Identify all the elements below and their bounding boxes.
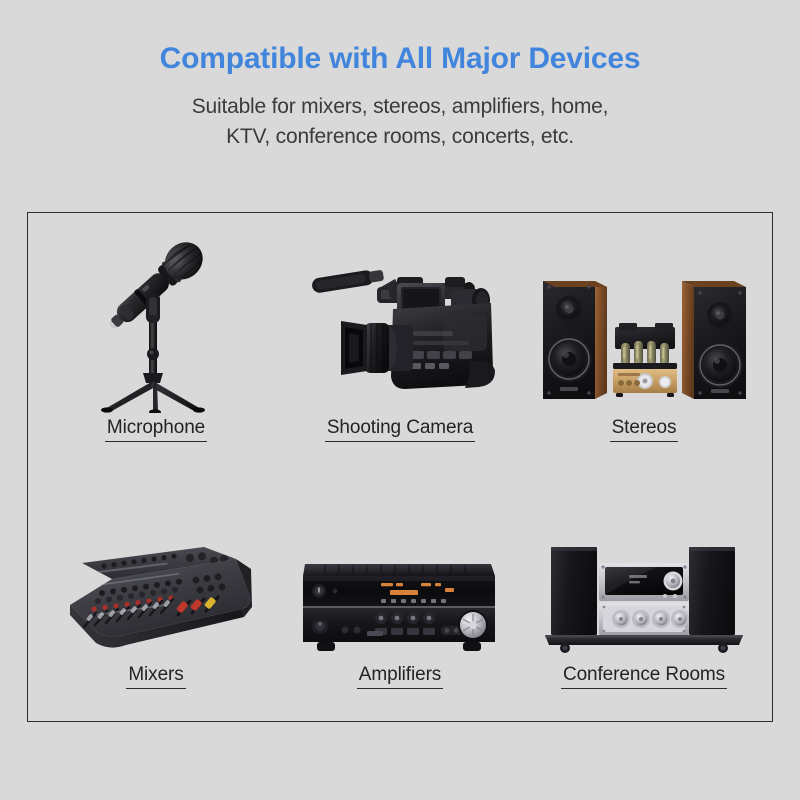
micro-hifi-system-icon bbox=[537, 535, 752, 660]
shooting-camera-artwork bbox=[278, 217, 522, 417]
subtitle-line-1: Suitable for mixers, stereos, amplifiers… bbox=[0, 92, 800, 122]
header: Compatible with All Major Devices Suitab… bbox=[0, 40, 800, 152]
device-label-stereos: Stereos bbox=[610, 417, 679, 442]
device-cell-conference-rooms: Conference Rooms bbox=[522, 468, 766, 719]
device-cell-shooting-camera: Shooting Camera bbox=[278, 217, 522, 468]
microphone-on-stand-icon bbox=[69, 223, 244, 413]
device-cell-stereos: Stereos bbox=[522, 217, 766, 468]
page-subtitle: Suitable for mixers, stereos, amplifiers… bbox=[0, 92, 800, 152]
device-cell-microphone: Microphone bbox=[34, 217, 278, 468]
device-cell-amplifiers: Amplifiers bbox=[278, 468, 522, 719]
audio-mixing-console-icon bbox=[54, 535, 259, 660]
amplifiers-artwork bbox=[278, 468, 522, 664]
device-label-mixers: Mixers bbox=[126, 664, 185, 689]
subtitle-line-2: KTV, conference rooms, concerts, etc. bbox=[0, 122, 800, 152]
device-label-microphone: Microphone bbox=[105, 417, 207, 442]
conference-rooms-artwork bbox=[522, 468, 766, 664]
stereos-artwork bbox=[522, 217, 766, 417]
device-grid-panel: Microphone bbox=[27, 212, 773, 722]
camcorder-icon bbox=[293, 243, 508, 413]
av-receiver-icon bbox=[295, 550, 505, 660]
product-feature-page: Compatible with All Major Devices Suitab… bbox=[0, 0, 800, 800]
bookshelf-speakers-tube-amp-icon bbox=[537, 263, 752, 413]
device-label-conference-rooms: Conference Rooms bbox=[561, 664, 727, 689]
device-grid: Microphone bbox=[28, 213, 772, 721]
microphone-artwork bbox=[34, 217, 278, 417]
page-title: Compatible with All Major Devices bbox=[0, 40, 800, 78]
device-cell-mixers: Mixers bbox=[34, 468, 278, 719]
mixers-artwork bbox=[34, 468, 278, 664]
device-label-shooting-camera: Shooting Camera bbox=[325, 417, 475, 442]
device-label-amplifiers: Amplifiers bbox=[357, 664, 443, 689]
